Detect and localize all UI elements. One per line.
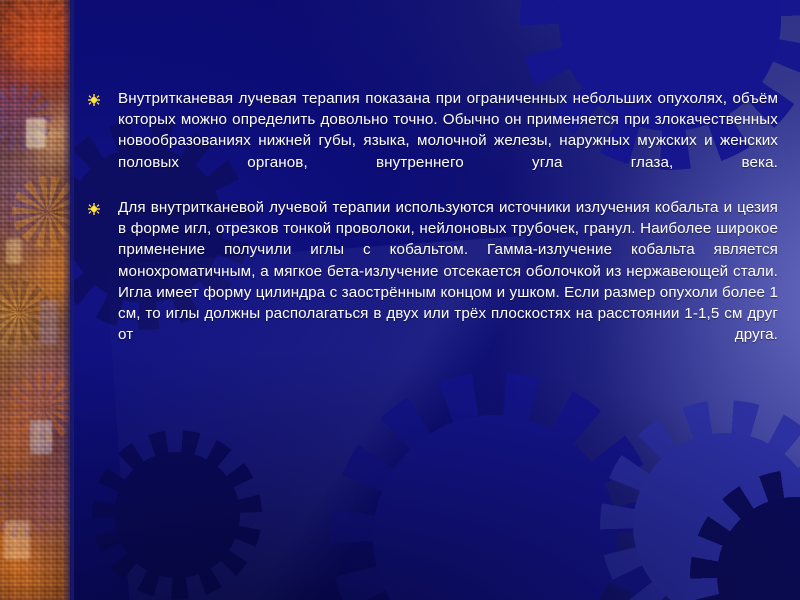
bullet-item: Для внутритканевой лучевой терапии испол… bbox=[88, 197, 778, 367]
sun-starburst-bullet-icon bbox=[88, 203, 100, 215]
decor-band-edge bbox=[62, 0, 74, 600]
decorative-side-band bbox=[0, 0, 70, 600]
bullet-text-1: Внутритканевая лучевая терапия показана … bbox=[118, 88, 778, 194]
presentation-slide: Внутритканевая лучевая терапия показана … bbox=[0, 0, 800, 600]
bullet-item: Внутритканевая лучевая терапия показана … bbox=[88, 88, 778, 194]
decor-grain-overlay bbox=[0, 0, 70, 600]
bullet-text-2: Для внутритканевой лучевой терапии испол… bbox=[118, 197, 778, 367]
sun-starburst-bullet-icon bbox=[88, 94, 100, 106]
slide-body: Внутритканевая лучевая терапия показана … bbox=[88, 88, 778, 367]
